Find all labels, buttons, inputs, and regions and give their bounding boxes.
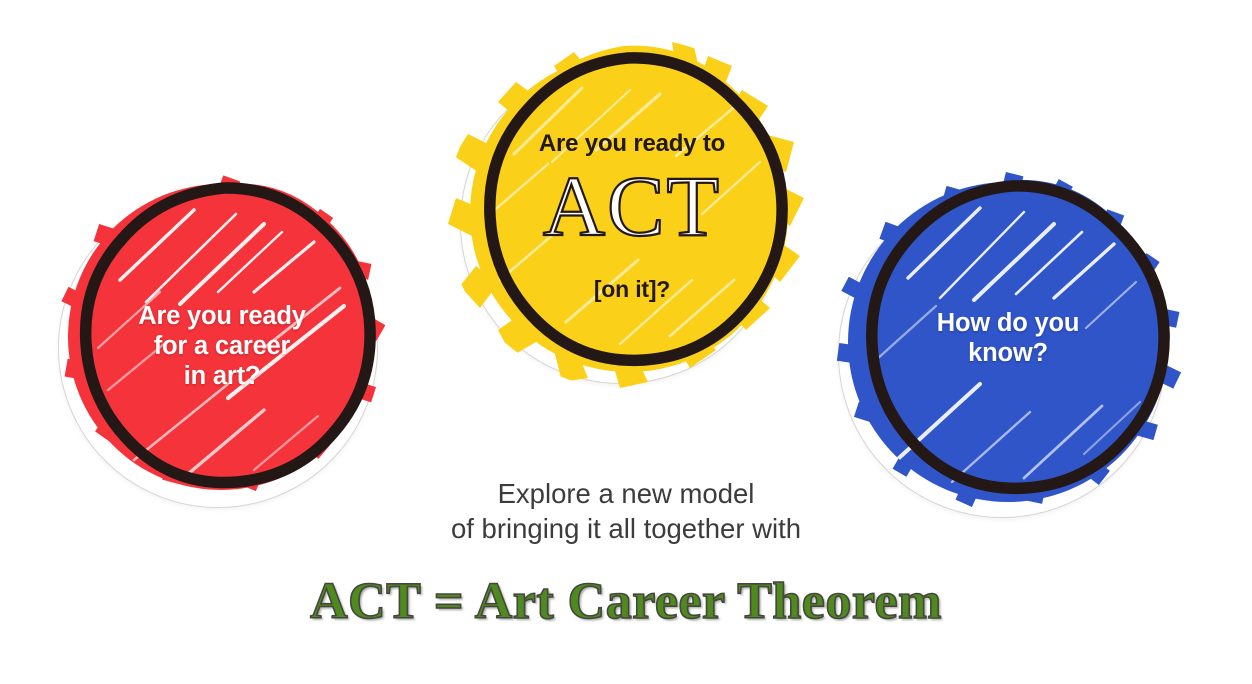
yellow-bottom-text: [on it]? (446, 276, 818, 303)
subtitle-block: Explore a new model of bringing it all t… (0, 476, 1252, 546)
yellow-top-text: Are you ready to (446, 130, 818, 158)
circle-label-blue-line2: know? (828, 339, 1188, 369)
circle-label-red-line1: Are you ready (52, 302, 392, 332)
circle-label-red-line3: in art? (52, 362, 392, 392)
circle-label-yellow-bottom: [on it]? (446, 276, 818, 303)
circle-know-blue[interactable]: How do you know? (828, 168, 1188, 512)
circle-label-blue-line1: How do you (828, 309, 1188, 339)
circle-label-yellow-top: Are you ready to (446, 130, 818, 158)
subtitle-line-2: of bringing it all together with (0, 511, 1252, 546)
subtitle-line-1: Explore a new model (0, 476, 1252, 511)
circle-act-yellow[interactable]: Are you ready to ACT [on it]? (446, 38, 818, 390)
circle-label-red-line2: for a career (52, 332, 392, 362)
act-wordmark: ACT (446, 166, 818, 248)
circle-career-red[interactable]: Are you ready for a career in art? (52, 170, 392, 500)
circle-label-red: Are you ready for a career in art? (52, 302, 392, 391)
circle-label-blue: How do you know? (828, 309, 1188, 369)
headline-act-equals: ACT = Art Career Theorem (0, 572, 1252, 631)
poster-canvas: Are you ready for a career in art? (0, 0, 1252, 684)
